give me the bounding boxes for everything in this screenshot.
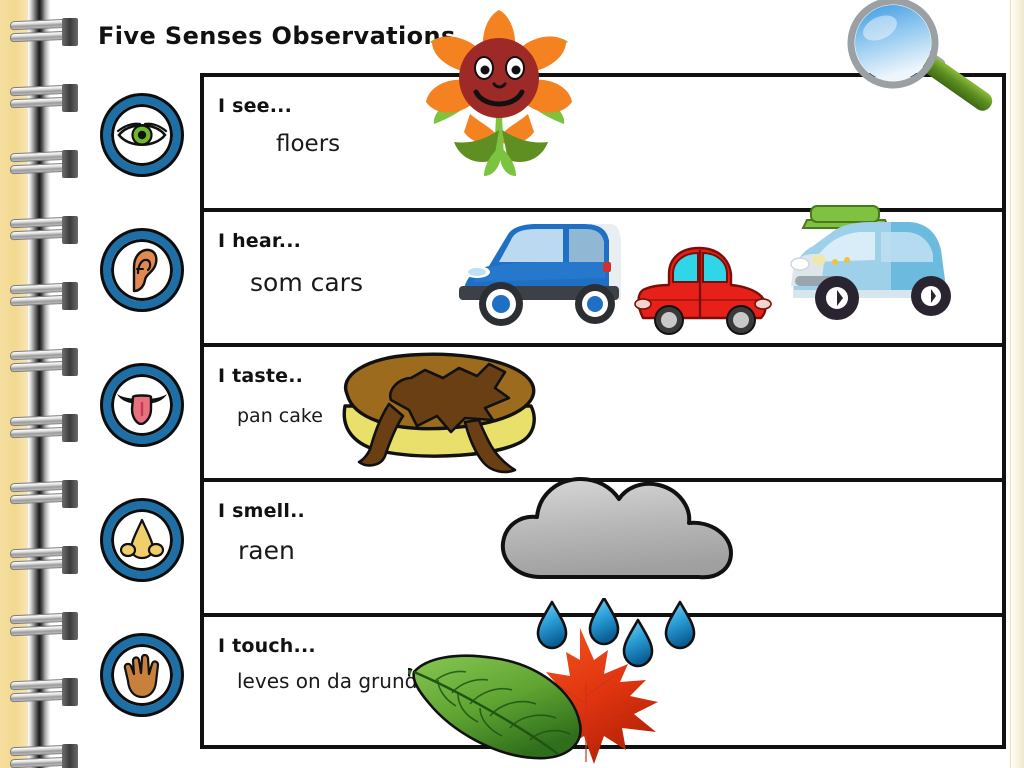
binding-coil: [10, 612, 78, 642]
answer-i-touch[interactable]: leves on da grund: [237, 669, 417, 693]
page-right-edge-line: [1010, 0, 1011, 768]
eye-icon: [116, 118, 168, 152]
sense-badge-hearing[interactable]: [103, 231, 181, 309]
answer-i-smell[interactable]: raen: [238, 536, 295, 565]
prompt-i-see: I see...: [218, 95, 292, 117]
binding-coil: [10, 150, 78, 180]
senses-table: I see... floers I hear... som cars I tas…: [200, 73, 1006, 749]
binding-coil: [10, 744, 78, 768]
binding-coil: [10, 678, 78, 708]
binding-coil: [10, 546, 78, 576]
binding-coil: [10, 18, 78, 48]
ear-icon: [124, 247, 160, 293]
binding-coil: [10, 216, 78, 246]
answer-i-see[interactable]: floers: [276, 131, 340, 157]
sense-badge-taste[interactable]: [103, 366, 181, 444]
binding-spine: [28, 0, 50, 768]
prompt-i-smell: I smell..: [218, 500, 305, 522]
binding-coil: [10, 282, 78, 312]
table-row-smell[interactable]: I smell.. raen: [204, 482, 1002, 617]
sense-badge-sight[interactable]: [103, 96, 181, 174]
binding-coil: [10, 348, 78, 378]
answer-i-taste[interactable]: pan cake: [237, 405, 323, 427]
sense-badge-smell[interactable]: [103, 501, 181, 579]
tongue-icon: [115, 385, 169, 425]
answer-i-hear[interactable]: som cars: [250, 268, 363, 297]
prompt-i-touch: I touch...: [218, 635, 316, 657]
binding-coil: [10, 414, 78, 444]
worksheet-page: Five Senses Observations: [0, 0, 1024, 768]
table-row-hearing[interactable]: I hear... som cars: [204, 212, 1002, 347]
table-row-sight[interactable]: I see... floers: [204, 77, 1002, 212]
binding-coil: [10, 480, 78, 510]
binding-coil: [10, 84, 78, 114]
table-row-taste[interactable]: I taste.. pan cake: [204, 347, 1002, 482]
sense-badge-touch[interactable]: [103, 636, 181, 714]
prompt-i-hear: I hear...: [218, 230, 301, 252]
hand-icon: [119, 651, 165, 699]
nose-icon: [120, 517, 164, 563]
prompt-i-taste: I taste..: [218, 365, 303, 387]
table-row-touch[interactable]: I touch... leves on da grund: [204, 617, 1002, 748]
spiral-binding: [0, 0, 92, 768]
page-title: Five Senses Observations: [98, 22, 456, 50]
